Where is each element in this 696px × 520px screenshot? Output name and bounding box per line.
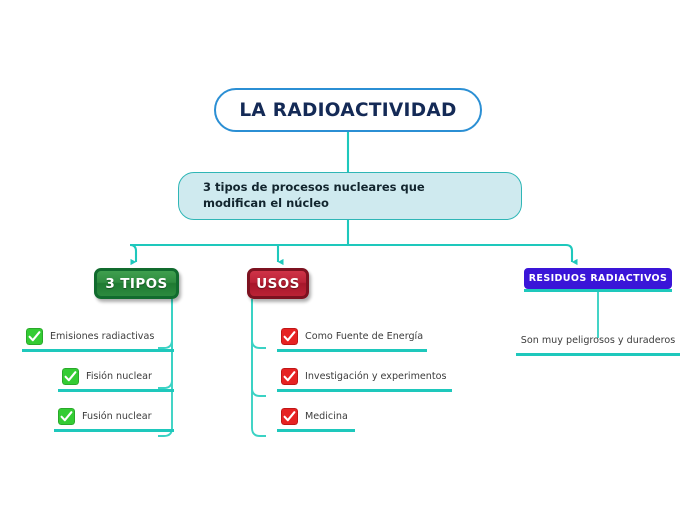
root-node[interactable]: LA RADIOACTIVIDAD [214,88,482,132]
leaf-underline [58,389,174,392]
leaf-item[interactable]: Son muy peligrosos y duraderos [516,330,680,356]
leaf-item[interactable]: Investigación y experimentos [277,366,452,392]
branch-chip-residuos-label: RESIDUOS RADIACTIVOS [529,273,668,284]
subtitle-node[interactable]: 3 tipos de procesos nucleares que modifi… [178,172,522,220]
check-square-red-icon [281,328,298,345]
leaf-label: Emisiones radiactivas [50,331,154,342]
leaf-label: Fisión nuclear [86,371,152,382]
root-node-label: LA RADIOACTIVIDAD [239,100,456,121]
leaf-underline [516,353,680,356]
check-square-red-icon [281,368,298,385]
branch-chip-residuos[interactable]: RESIDUOS RADIACTIVOS [524,268,672,289]
mindmap-canvas: LA RADIOACTIVIDAD 3 tipos de procesos nu… [0,0,696,520]
check-square-green-icon [62,368,79,385]
check-square-red-icon [281,408,298,425]
check-square-green-icon [58,408,75,425]
check-square-green-icon [26,328,43,345]
branch-chip-residuos-underline [524,289,672,292]
branch-chip-usos[interactable]: USOS [247,268,309,299]
branch-chip-tipos[interactable]: 3 TIPOS [94,268,179,299]
leaf-underline [54,429,174,432]
leaf-item[interactable]: Fisión nuclear [58,366,174,392]
leaf-item[interactable]: Fusión nuclear [54,406,174,432]
leaf-underline [277,349,427,352]
leaf-underline [22,349,174,352]
leaf-item[interactable]: Emisiones radiactivas [22,326,174,352]
leaf-label: Son muy peligrosos y duraderos [521,335,676,346]
leaf-underline [277,429,355,432]
leaf-label: Investigación y experimentos [305,371,447,382]
leaf-item[interactable]: Como Fuente de Energía [277,326,427,352]
connector-lines [0,0,696,520]
leaf-label: Fusión nuclear [82,411,152,422]
leaf-label: Medicina [305,411,348,422]
branch-chip-tipos-label: 3 TIPOS [105,276,167,292]
leaf-underline [277,389,452,392]
leaf-item[interactable]: Medicina [277,406,355,432]
branch-chip-usos-label: USOS [256,276,299,292]
subtitle-node-label: 3 tipos de procesos nucleares que modifi… [179,180,449,211]
leaf-label: Como Fuente de Energía [305,331,423,342]
